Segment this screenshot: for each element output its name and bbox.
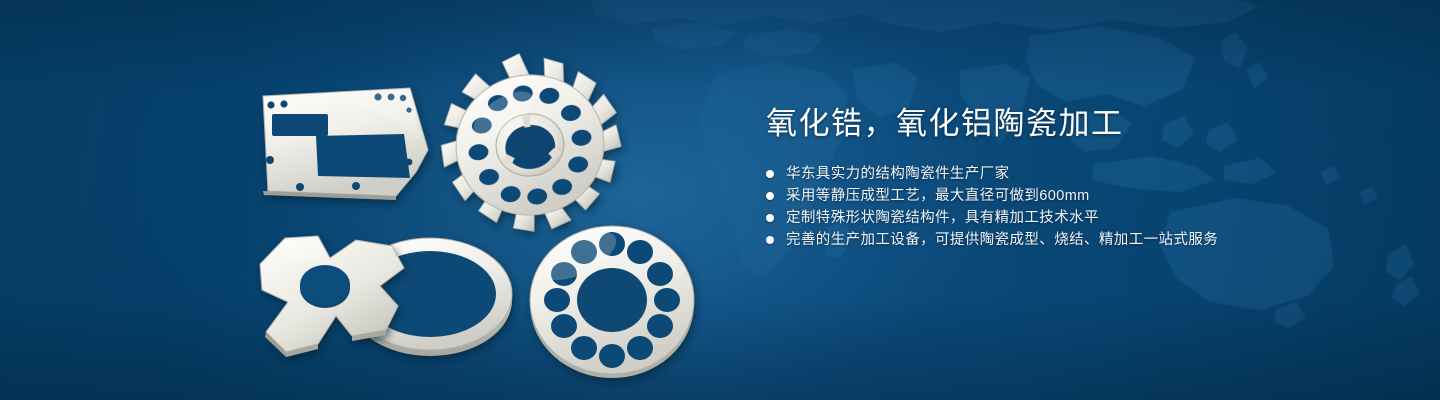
feature-item-label: 华东具实力的结构陶瓷件生产厂家 (786, 163, 1010, 185)
banner-copy: 氧化锆，氧化铝陶瓷加工 华东具实力的结构陶瓷件生产厂家 采用等静压成型工艺，最大… (766, 104, 1406, 251)
banner-headline: 氧化锆，氧化铝陶瓷加工 (766, 104, 1406, 144)
ceramic-plate-part (263, 88, 428, 200)
bullet-dot-icon (766, 192, 774, 200)
hero-banner: 氧化锆，氧化铝陶瓷加工 华东具实力的结构陶瓷件生产厂家 采用等静压成型工艺，最大… (0, 0, 1440, 400)
feature-item-label: 采用等静压成型工艺，最大直径可做到600mm (786, 185, 1090, 207)
feature-item: 采用等静压成型工艺，最大直径可做到600mm (766, 185, 1406, 207)
banner-feature-list: 华东具实力的结构陶瓷件生产厂家 采用等静压成型工艺，最大直径可做到600mm 定… (766, 163, 1406, 251)
feature-item: 华东具实力的结构陶瓷件生产厂家 (766, 163, 1406, 185)
ceramic-impeller-part (430, 41, 631, 242)
feature-item-label: 完善的生产加工设备，可提供陶瓷成型、烧结、精加工一站式服务 (786, 229, 1218, 251)
bullet-dot-icon (766, 170, 774, 178)
bullet-dot-icon (766, 214, 774, 222)
feature-item: 完善的生产加工设备，可提供陶瓷成型、烧结、精加工一站式服务 (766, 229, 1406, 251)
feature-item: 定制特殊形状陶瓷结构件，具有精加工技术水平 (766, 207, 1406, 229)
ceramic-products-image (0, 0, 760, 400)
feature-item-label: 定制特殊形状陶瓷结构件，具有精加工技术水平 (786, 207, 1099, 229)
bullet-dot-icon (766, 236, 774, 244)
ceramic-holed-disc-part (530, 222, 694, 378)
